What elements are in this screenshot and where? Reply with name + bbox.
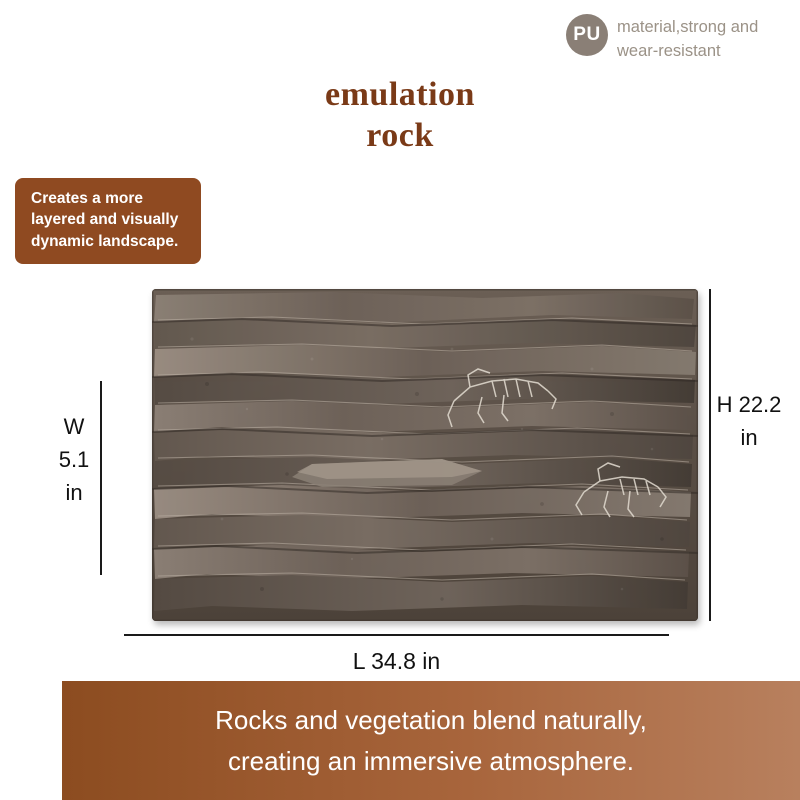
- title-line-1: emulation: [325, 76, 475, 113]
- pu-badge-icon: PU: [566, 14, 608, 56]
- width-label: W 5.1 in: [52, 410, 96, 509]
- feature-callout: Creates a more layered and visually dyna…: [15, 178, 201, 264]
- bottom-banner: Rocks and vegetation blend naturally, cr…: [62, 681, 800, 800]
- page-title: emulation rock: [0, 74, 800, 157]
- height-label: H 22.2 in: [712, 388, 786, 454]
- rock-illustration: [152, 289, 698, 621]
- product-image-container: [152, 289, 698, 621]
- length-label: L 34.8 in: [124, 644, 669, 679]
- banner-line-1: Rocks and vegetation blend naturally,: [215, 700, 647, 740]
- width-guide-line: [100, 381, 102, 575]
- pu-material-block: PU material,strong and wear-resistant: [566, 14, 790, 64]
- title-line-2: rock: [0, 115, 800, 156]
- height-guide-line: [709, 289, 711, 621]
- emulation-rock-image: [152, 289, 698, 621]
- banner-line-2: creating an immersive atmosphere.: [228, 741, 634, 781]
- material-description: material,strong and wear-resistant: [617, 14, 787, 64]
- length-guide-line: [124, 634, 669, 636]
